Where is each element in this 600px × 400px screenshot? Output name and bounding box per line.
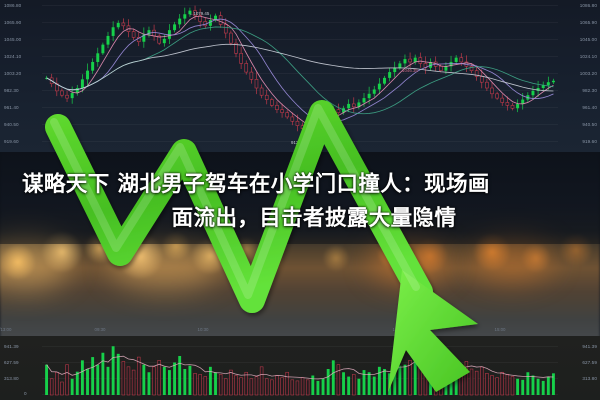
headline-line-2: 面流出，目击者披露大量隐情: [8, 202, 592, 236]
moving-average-lines: [0, 0, 600, 152]
volume-bar-series: [0, 336, 600, 400]
screenshot-stage: 1086.80 1065.90 1045.00 1024.10 1003.20 …: [0, 0, 600, 400]
price-annotation: 924.78: [315, 126, 328, 131]
time-axis-label: 10:30: [198, 327, 209, 332]
time-axis-label: 09:30: [95, 327, 106, 332]
price-annotation: 1046.35: [402, 68, 418, 73]
time-axis-label: 11:30/13:00: [0, 327, 11, 332]
time-axis-label: 15:00: [495, 327, 506, 332]
price-annotation: 912.26→: [291, 140, 309, 145]
price-chart-panel: 1086.80 1065.90 1045.00 1024.10 1003.20 …: [0, 0, 600, 152]
price-annotation: ←1079.45: [189, 11, 209, 16]
headline-line-1: 谋略天下 湖北男子驾车在小学门口撞人：现场画: [8, 168, 592, 202]
headline-overlay: 谋略天下 湖北男子驾车在小学门口撞人：现场画 面流出，目击者披露大量隐情: [8, 168, 592, 236]
volume-chart-panel: 941.39 627.59 313.80 0 941.39 627.59 313…: [0, 336, 600, 400]
time-axis-label: 14:00: [393, 327, 404, 332]
